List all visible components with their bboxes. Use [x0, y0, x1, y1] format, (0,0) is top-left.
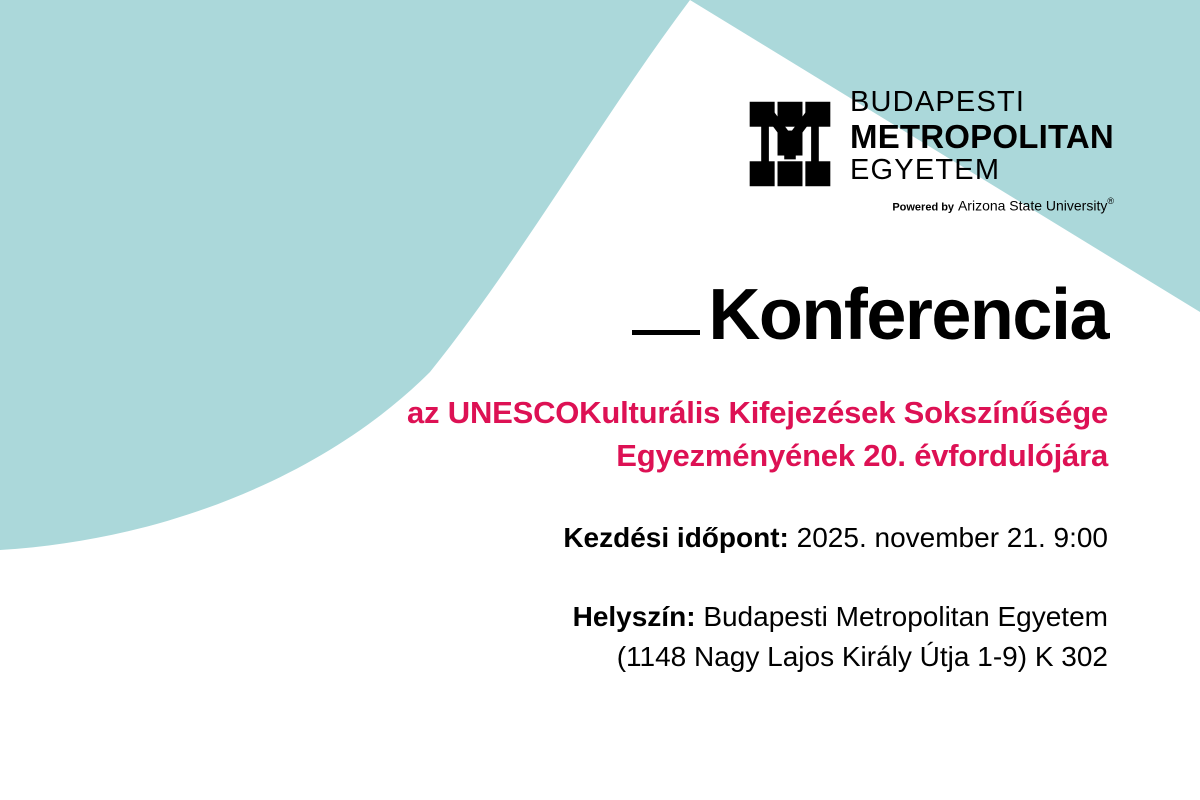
detail-start-time-value: 2025. november 21. 9:00 [797, 522, 1108, 553]
detail-venue: Helyszín: Budapesti Metropolitan Egyetem… [108, 597, 1108, 678]
logo-line-metropolitan: METROPOLITAN [850, 120, 1114, 153]
detail-venue-line: Helyszín: Budapesti Metropolitan Egyetem [108, 597, 1108, 638]
conference-poster: BUDAPESTI METROPOLITAN EGYETEM Powered b… [0, 0, 1200, 800]
logo-line-egyetem: EGYETEM [850, 156, 1114, 185]
detail-venue-value: Budapesti Metropolitan Egyetem [703, 601, 1108, 632]
powered-by-partner: Arizona State University [958, 197, 1107, 213]
detail-start-time: Kezdési időpont: 2025. november 21. 9:00 [108, 518, 1108, 559]
powered-by-prefix: Powered by [892, 201, 954, 213]
headline: Konferencia [632, 278, 1108, 354]
detail-venue-label: Helyszín: [573, 601, 696, 632]
logo-wordmark: BUDAPESTI METROPOLITAN EGYETEM [850, 88, 1114, 185]
detail-venue-address: (1148 Nagy Lajos Király Útja 1-9) K 302 [108, 637, 1108, 678]
logo-line-budapesti: BUDAPESTI [850, 88, 1114, 117]
page-title: Konferencia [708, 278, 1108, 354]
logo-powered-by: Powered by Arizona State University® [850, 196, 1114, 215]
powered-by-trademark: ® [1107, 196, 1114, 206]
detail-start-time-line: Kezdési időpont: 2025. november 21. 9:00 [108, 518, 1108, 559]
subtitle-line-2: Egyezményének 20. évfordulójára [108, 435, 1108, 478]
subtitle-line-1: az UNESCOKulturális Kifejezések Sokszínű… [108, 392, 1108, 435]
subtitle: az UNESCOKulturális Kifejezések Sokszínű… [108, 392, 1108, 478]
budapest-metropolitan-m-mark [742, 96, 838, 192]
university-logo: BUDAPESTI METROPOLITAN EGYETEM Powered b… [742, 88, 1114, 218]
event-details: Kezdési időpont: 2025. november 21. 9:00… [108, 518, 1108, 678]
headline-dash-rule [632, 330, 700, 335]
detail-start-time-label: Kezdési időpont: [563, 522, 789, 553]
